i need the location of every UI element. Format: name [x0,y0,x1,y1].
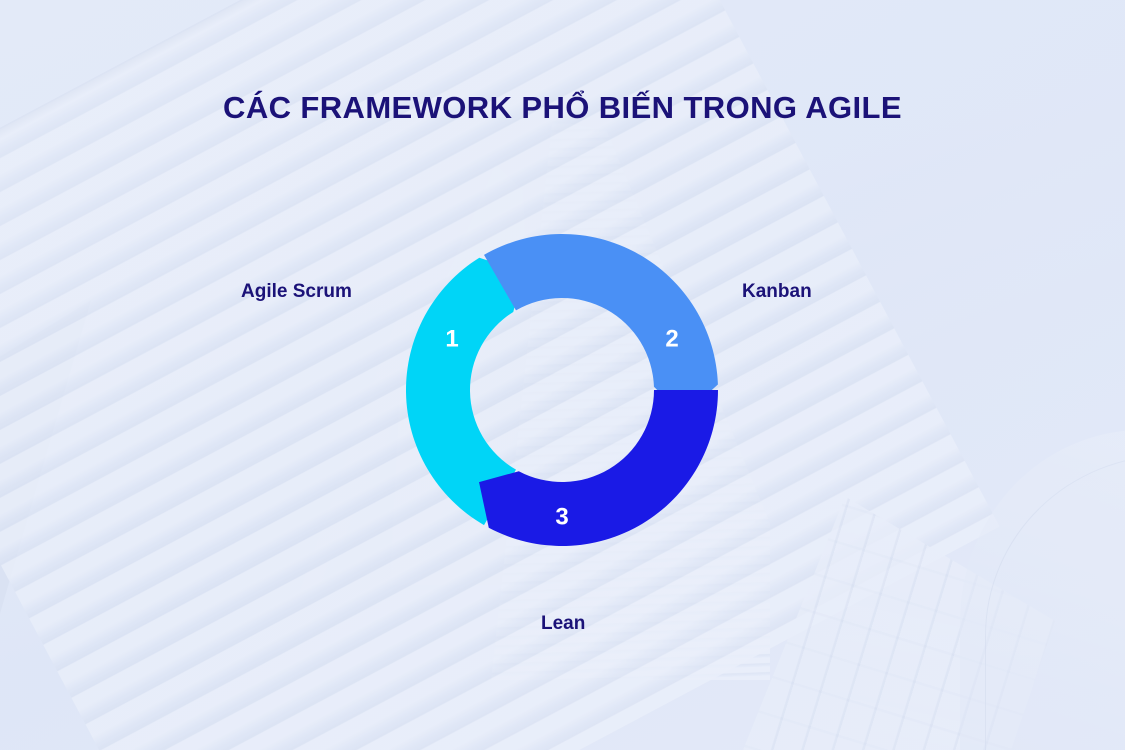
slide-canvas: CÁC FRAMEWORK PHỔ BIẾN TRONG AGILE 123 A… [0,0,1125,750]
agile-framework-donut-chart: 123 [0,0,1125,750]
donut-chart-svg: 123 [0,0,1125,750]
donut-segment-3[interactable] [479,390,718,546]
segment-number-1: 1 [445,325,458,352]
segment-label-kanban: Kanban [742,281,812,303]
segment-label-agile-scrum: Agile Scrum [241,281,352,303]
donut-segment-2[interactable] [484,234,718,416]
segment-number-3: 3 [555,503,568,530]
slide-content: CÁC FRAMEWORK PHỔ BIẾN TRONG AGILE 123 A… [0,0,1125,750]
segment-number-2: 2 [665,325,678,352]
segment-label-lean: Lean [541,613,585,635]
